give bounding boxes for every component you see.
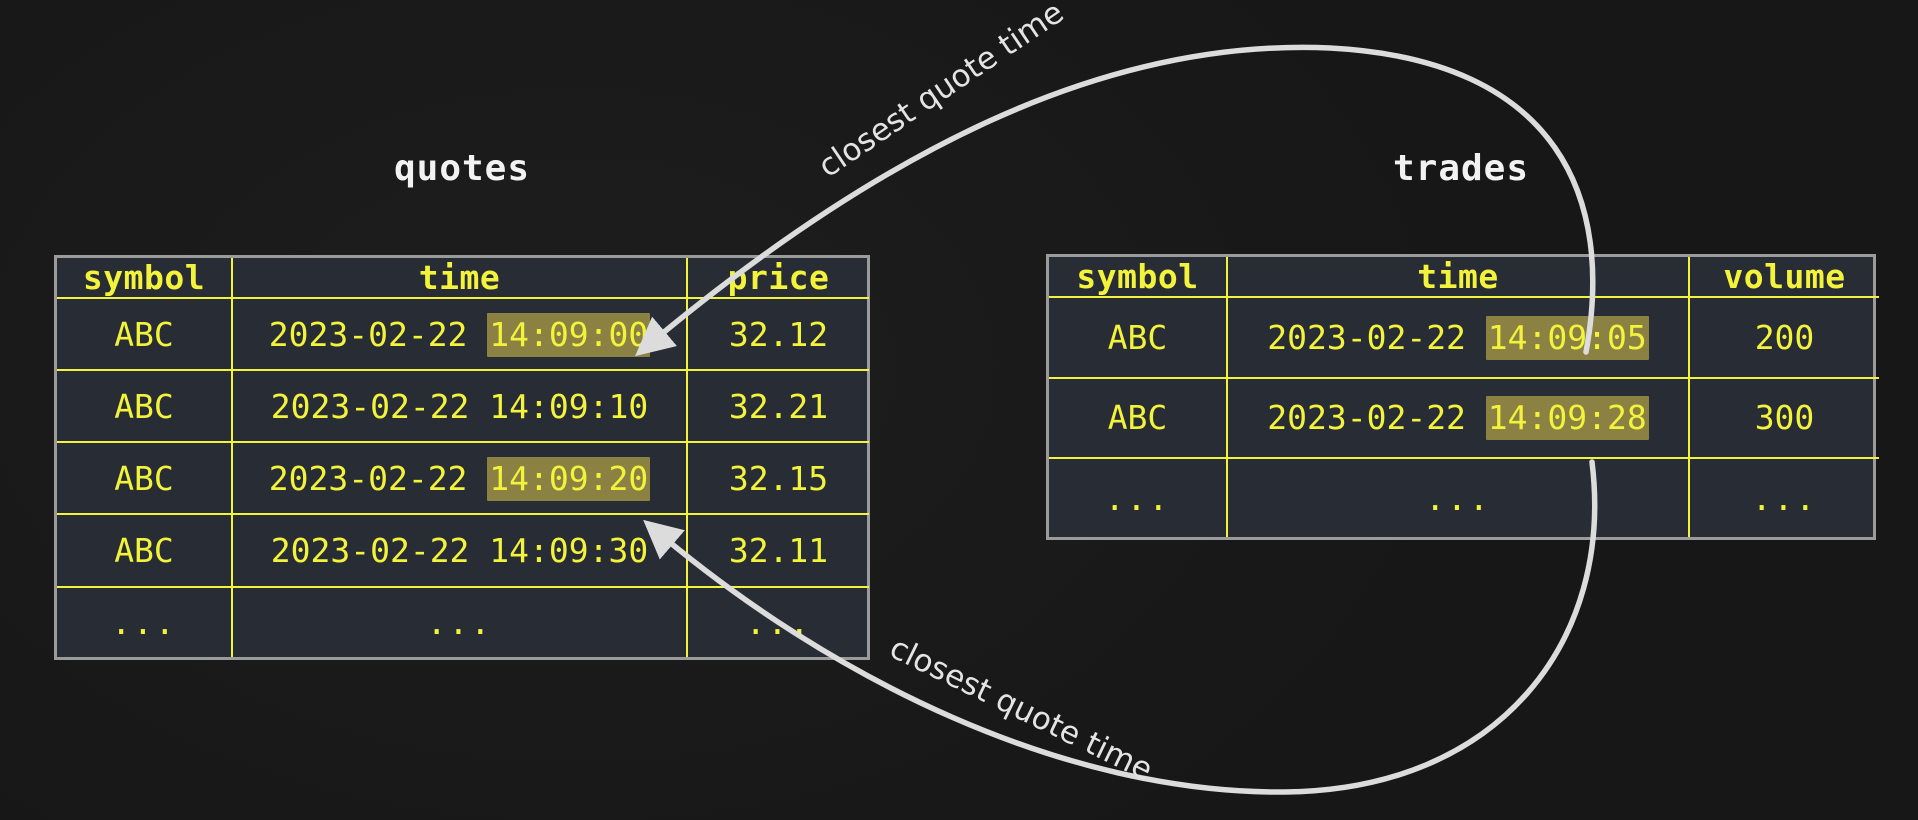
quotes-cell-symbol: ABC	[57, 370, 232, 442]
trades-cell-symbol: ABC	[1049, 297, 1227, 378]
quotes-cell-time: 2023-02-22 14:09:10	[232, 370, 687, 442]
table-row-ellipsis: ... ... ...	[1049, 458, 1879, 537]
trades-cell-volume: 200	[1689, 297, 1879, 378]
quotes-time-clock-highlight: 14:09:00	[487, 313, 650, 357]
trades-col-header-symbol: symbol	[1049, 257, 1227, 297]
quotes-col-header-price: price	[687, 258, 869, 298]
diagram-canvas: quotes symbol time price ABC	[0, 0, 1918, 820]
quotes-cell-time: 2023-02-22 14:09:30	[232, 514, 687, 586]
trades-table-frame: symbol time volume ABC 2023-02-22 14:09:…	[1046, 254, 1876, 540]
quotes-col-header-time: time	[232, 258, 687, 298]
quotes-time-clock: 14:09:10	[489, 387, 648, 426]
trades-cell-time-ellipsis: ...	[1227, 458, 1689, 537]
bottom-arrow-label: closest quote time	[884, 630, 1158, 788]
trades-header-row: symbol time volume	[1049, 257, 1879, 297]
quotes-col-header-symbol: symbol	[57, 258, 232, 298]
trades-time-clock-highlight: 14:09:28	[1486, 396, 1649, 440]
trades-cell-volume-ellipsis: ...	[1689, 458, 1879, 537]
quotes-time-date: 2023-02-22	[271, 531, 490, 570]
quotes-cell-time-ellipsis: ...	[232, 587, 687, 657]
quotes-cell-price: 32.11	[687, 514, 869, 586]
quotes-cell-symbol-ellipsis: ...	[57, 587, 232, 657]
trades-cell-symbol-ellipsis: ...	[1049, 458, 1227, 537]
trades-time-date: 2023-02-22	[1267, 318, 1486, 357]
quotes-table-title: quotes	[54, 148, 870, 189]
trades-cell-time: 2023-02-22 14:09:05	[1227, 297, 1689, 378]
table-row: ABC 2023-02-22 14:09:00 32.12	[57, 298, 869, 370]
table-row: ABC 2023-02-22 14:09:20 32.15	[57, 442, 869, 514]
quotes-cell-symbol: ABC	[57, 442, 232, 514]
table-row: ABC 2023-02-22 14:09:05 200	[1049, 297, 1879, 378]
quotes-cell-time: 2023-02-22 14:09:00	[232, 298, 687, 370]
quotes-time-clock-highlight: 14:09:20	[487, 457, 650, 501]
quotes-time-date: 2023-02-22	[269, 459, 488, 498]
quotes-time-clock: 14:09:30	[489, 531, 648, 570]
quotes-cell-price: 32.21	[687, 370, 869, 442]
trades-col-header-time: time	[1227, 257, 1689, 297]
quotes-cell-price: 32.15	[687, 442, 869, 514]
table-row: ABC 2023-02-22 14:09:30 32.11	[57, 514, 869, 586]
quotes-time-date: 2023-02-22	[271, 387, 490, 426]
trades-cell-time: 2023-02-22 14:09:28	[1227, 378, 1689, 459]
trades-cell-symbol: ABC	[1049, 378, 1227, 459]
trades-table-block: trades symbol time volume ABC	[1046, 148, 1876, 540]
quotes-cell-price: 32.12	[687, 298, 869, 370]
quotes-table-block: quotes symbol time price ABC	[54, 148, 870, 660]
trades-time-date: 2023-02-22	[1267, 398, 1486, 437]
trades-table-title: trades	[1046, 148, 1876, 189]
quotes-cell-symbol: ABC	[57, 514, 232, 586]
top-arrow-label: closest quote time	[812, 0, 1070, 185]
quotes-header-row: symbol time price	[57, 258, 869, 298]
table-row-ellipsis: ... ... ...	[57, 587, 869, 657]
quotes-cell-symbol: ABC	[57, 298, 232, 370]
table-row: ABC 2023-02-22 14:09:28 300	[1049, 378, 1879, 459]
quotes-table-frame: symbol time price ABC 2023-02-22 14:09:0…	[54, 255, 870, 660]
quotes-table: symbol time price ABC 2023-02-22 14:09:0…	[57, 258, 869, 657]
quotes-cell-price-ellipsis: ...	[687, 587, 869, 657]
trades-cell-volume: 300	[1689, 378, 1879, 459]
trades-table: symbol time volume ABC 2023-02-22 14:09:…	[1049, 257, 1879, 537]
trades-time-clock-highlight: 14:09:05	[1486, 316, 1649, 360]
table-row: ABC 2023-02-22 14:09:10 32.21	[57, 370, 869, 442]
quotes-cell-time: 2023-02-22 14:09:20	[232, 442, 687, 514]
quotes-time-date: 2023-02-22	[269, 315, 488, 354]
trades-col-header-volume: volume	[1689, 257, 1879, 297]
